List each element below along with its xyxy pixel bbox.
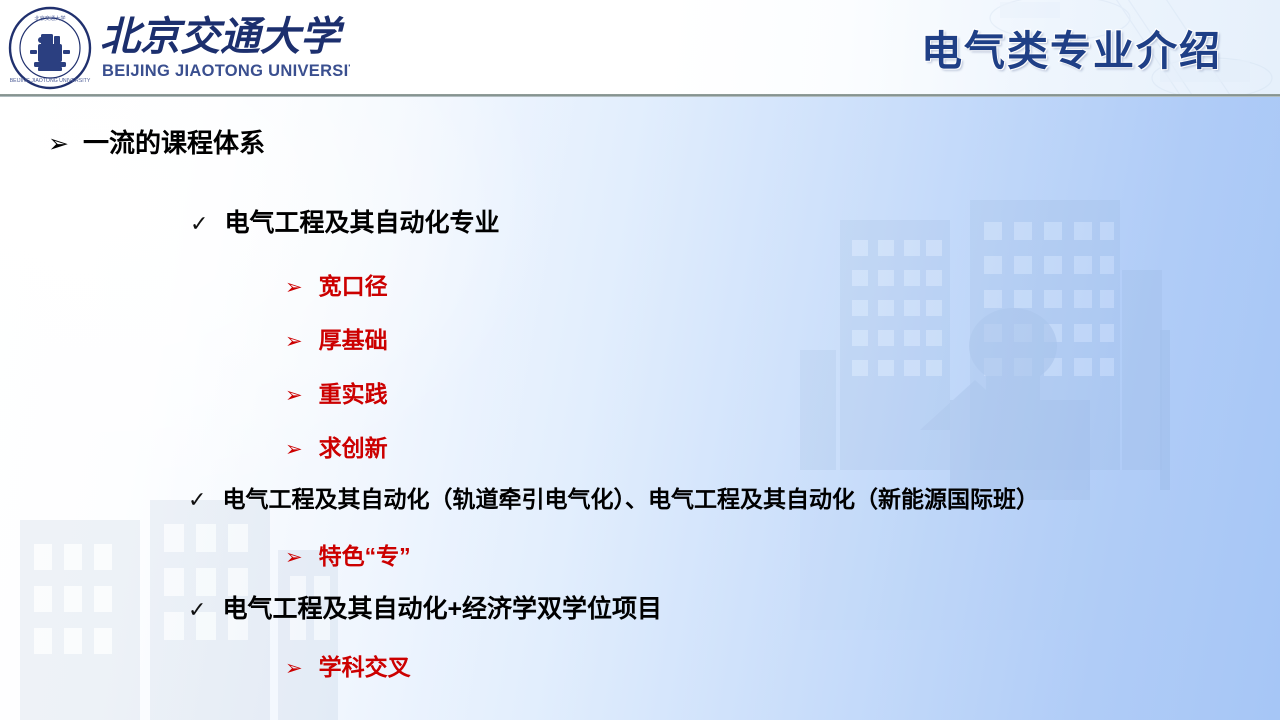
slide-content-area: ➢ 一流的课程体系 ✓ 电气工程及其自动化专业 ➢ 宽口径 ➢ 厚基础 ➢ 重实… (0, 97, 1280, 720)
bullet-line-dual-degree: ✓ 电气工程及其自动化+经济学双学位项目 (188, 589, 662, 625)
bullet-text: 电气工程及其自动化专业 (224, 203, 499, 239)
bullet-line-ee-major: ✓ 电气工程及其自动化专业 (190, 203, 499, 239)
bullet-line-thick-foundation: ➢ 厚基础 (285, 321, 388, 355)
university-seal-logo: 北京交通大学 BEIJING JIAOTONG UNIVERSITY (8, 6, 92, 90)
university-wordmark: 北京交通大学 BEIJING JIAOTONG UNIVERSITY (100, 8, 350, 88)
arrow-bullet-icon: ➢ (285, 437, 303, 461)
bullet-text: 学科交叉 (319, 648, 411, 682)
bullet-line-rail-and-intl-programs: ✓ 电气工程及其自动化（轨道牵引电气化）、电气工程及其自动化（新能源国际班） (188, 480, 1039, 514)
bullet-text: 重实践 (319, 375, 388, 409)
bullet-text: 特色“专” (319, 537, 411, 571)
bullet-line-interdisciplinary: ➢ 学科交叉 (285, 648, 411, 682)
bullet-line-course-system: ➢ 一流的课程体系 (48, 123, 265, 160)
bullet-line-specialty: ➢ 特色“专” (285, 537, 411, 571)
arrow-bullet-icon: ➢ (285, 329, 303, 353)
bullet-line-innovation: ➢ 求创新 (285, 429, 388, 463)
presentation-slide: 北京交通大学 BEIJING JIAOTONG UNIVERSITY 北京交通大… (0, 0, 1280, 720)
bullet-text: 电气工程及其自动化（轨道牵引电气化）、电气工程及其自动化（新能源国际班） (222, 480, 1039, 514)
svg-text:北京交通大学: 北京交通大学 (34, 14, 65, 22)
bullet-text: 电气工程及其自动化+经济学双学位项目 (222, 589, 662, 625)
slide-header: 北京交通大学 BEIJING JIAOTONG UNIVERSITY 北京交通大… (0, 0, 1280, 97)
bullet-line-practice-focus: ➢ 重实践 (285, 375, 388, 409)
check-bullet-icon: ✓ (188, 488, 206, 513)
bullet-text: 求创新 (319, 429, 388, 463)
bullet-text: 厚基础 (319, 321, 388, 355)
check-bullet-icon: ✓ (190, 212, 208, 237)
bullet-text: 宽口径 (319, 267, 388, 301)
bullet-line-wide-scope: ➢ 宽口径 (285, 267, 388, 301)
university-name-chinese: 北京交通大学 (100, 14, 345, 59)
svg-text:BEIJING JIAOTONG UNIVERSITY: BEIJING JIAOTONG UNIVERSITY (10, 78, 91, 84)
arrow-bullet-icon: ➢ (285, 383, 303, 407)
arrow-bullet-icon: ➢ (285, 275, 303, 299)
check-bullet-icon: ✓ (188, 598, 206, 623)
slide-title: 电气类专业介绍 (921, 17, 1222, 77)
arrow-bullet-icon: ➢ (285, 656, 303, 680)
arrow-bullet-icon: ➢ (48, 129, 69, 158)
arrow-bullet-icon: ➢ (285, 545, 303, 569)
bullet-text: 一流的课程体系 (83, 123, 265, 160)
university-name-english: BEIJING JIAOTONG UNIVERSITY (102, 62, 350, 80)
